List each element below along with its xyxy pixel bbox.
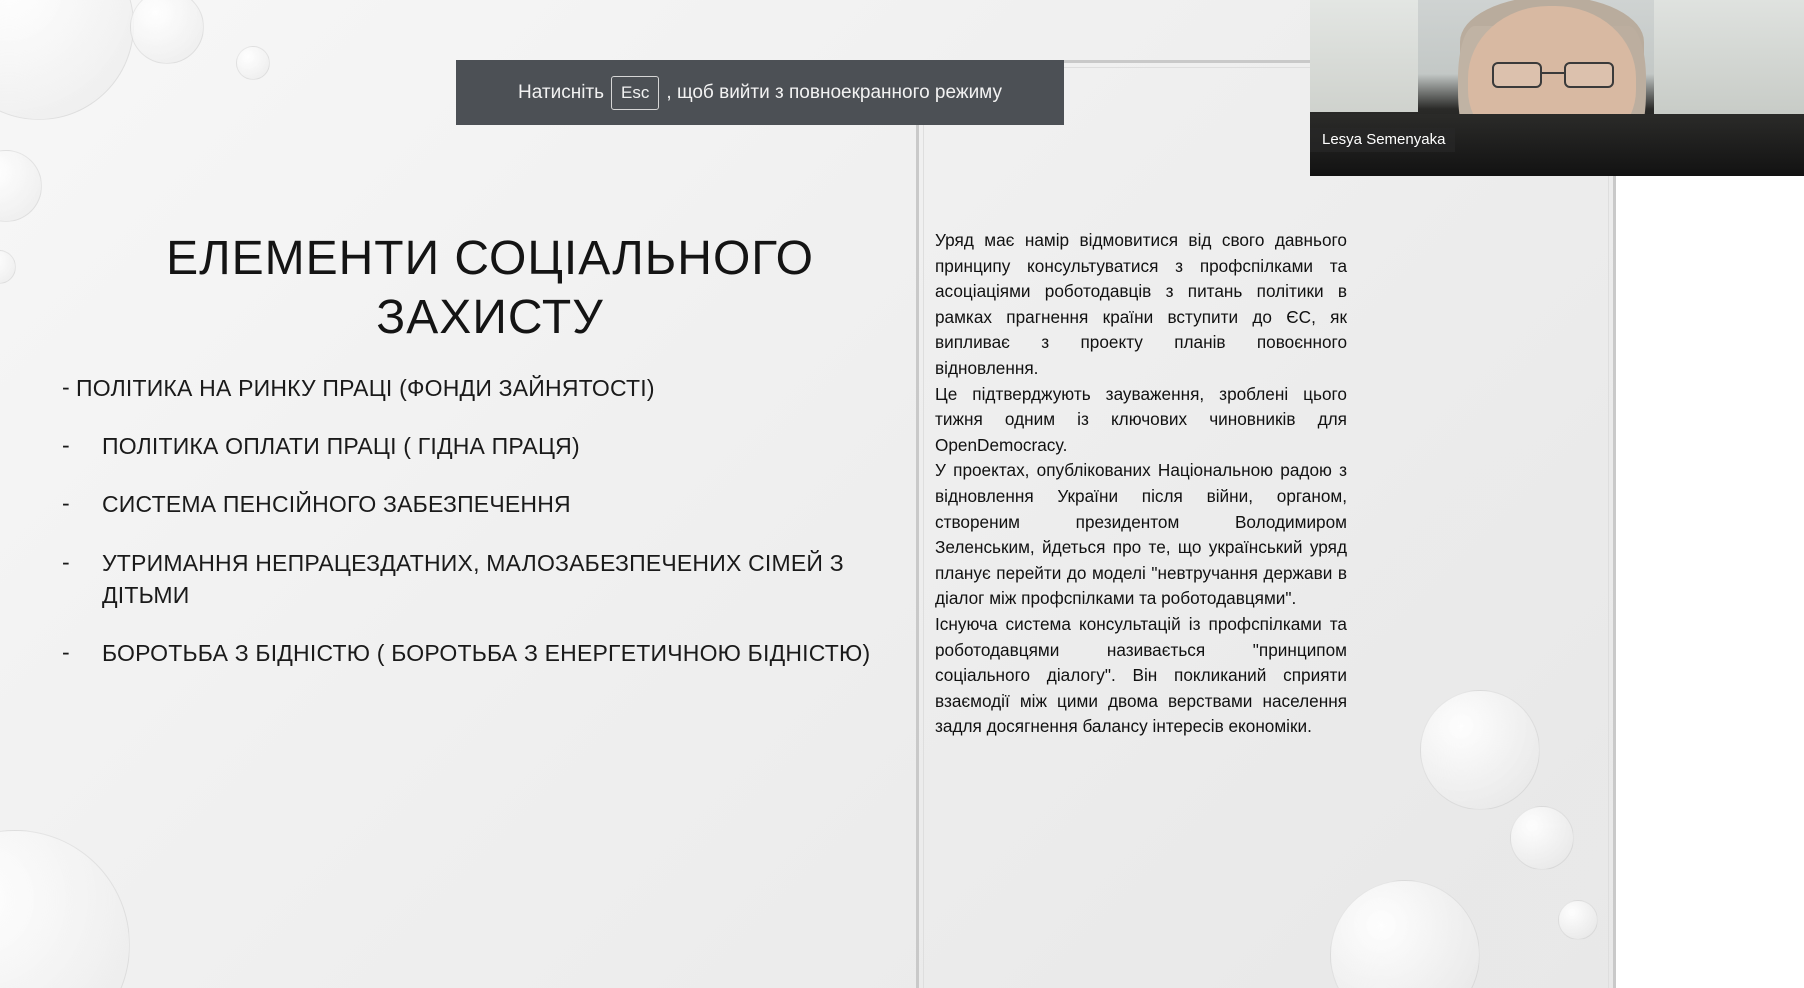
decorative-bubble-icon	[0, 830, 130, 988]
bullet-text: БОРОТЬБА З БІДНІСТЮ ( БОРОТЬБА З ЕНЕРГЕТ…	[102, 637, 870, 669]
bullet-dash-icon: -	[62, 430, 102, 460]
webcam-background-right	[1654, 0, 1804, 118]
bullet-dash-icon: -	[62, 372, 76, 402]
side-paragraph: Існуюча система консультацій із профспіл…	[935, 612, 1347, 740]
bullet-dash-icon: -	[62, 488, 102, 518]
glasses-bridge	[1542, 72, 1564, 74]
list-item: - СИСТЕМА ПЕНСІЙНОГО ЗАБЕЗПЕЧЕННЯ	[62, 488, 892, 520]
side-textbox-content: Уряд має намір відмовитися від свого дав…	[935, 228, 1347, 848]
list-item: - ПОЛІТИКА ОПЛАТИ ПРАЦІ ( ГІДНА ПРАЦЯ)	[62, 430, 892, 462]
side-paragraph: У проектах, опублікованих Національною р…	[935, 458, 1347, 612]
webcam-background-left	[1310, 0, 1418, 112]
fullscreen-hint-prefix: Натисніть	[518, 82, 604, 104]
participant-name-label: Lesya Semenyaka	[1310, 128, 1455, 152]
bullet-text: УТРИМАННЯ НЕПРАЦЕЗДАТНИХ, МАЛОЗАБЕЗПЕЧЕН…	[102, 547, 892, 611]
side-paragraph: Це підтверджують зауваження, зроблені ць…	[935, 382, 1347, 459]
glasses-icon	[1492, 62, 1614, 88]
fullscreen-hint-banner: Натисніть Esc , щоб вийти з повноекранно…	[456, 60, 1064, 125]
bullet-dash-icon: -	[62, 637, 102, 667]
glasses-lens-right	[1564, 62, 1614, 88]
esc-key-badge: Esc	[611, 76, 659, 110]
list-item: - ПОЛІТИКА НА РИНКУ ПРАЦІ (ФОНДИ ЗАЙНЯТО…	[62, 372, 892, 404]
fullscreen-hint-suffix: , щоб вийти з повноекранного режиму	[666, 82, 1002, 104]
bullet-text: ПОЛІТИКА ОПЛАТИ ПРАЦІ ( ГІДНА ПРАЦЯ)	[102, 430, 580, 462]
decorative-bubble-icon	[236, 46, 270, 80]
bullet-dash-icon: -	[62, 547, 102, 577]
slide-title: ЕЛЕМЕНТИ СОЦІАЛЬНОГО ЗАХИСТУ	[110, 230, 870, 347]
side-paragraph: Уряд має намір відмовитися від свого дав…	[935, 228, 1347, 382]
bullet-text: ПОЛІТИКА НА РИНКУ ПРАЦІ (ФОНДИ ЗАЙНЯТОСТ…	[76, 372, 655, 404]
slide-bullet-list: - ПОЛІТИКА НА РИНКУ ПРАЦІ (ФОНДИ ЗАЙНЯТО…	[62, 372, 892, 695]
glasses-lens-left	[1492, 62, 1542, 88]
decorative-bubble-icon	[0, 250, 16, 284]
webcam-video-tile[interactable]: Lesya Semenyaka	[1310, 0, 1804, 176]
decorative-bubble-icon	[130, 0, 204, 64]
list-item: - УТРИМАННЯ НЕПРАЦЕЗДАТНИХ, МАЛОЗАБЕЗПЕЧ…	[62, 547, 892, 611]
decorative-bubble-icon	[0, 150, 42, 222]
decorative-bubble-icon	[0, 0, 134, 120]
list-item: - БОРОТЬБА З БІДНІСТЮ ( БОРОТЬБА З ЕНЕРГ…	[62, 637, 892, 669]
bullet-text: СИСТЕМА ПЕНСІЙНОГО ЗАБЕЗПЕЧЕННЯ	[102, 488, 571, 520]
